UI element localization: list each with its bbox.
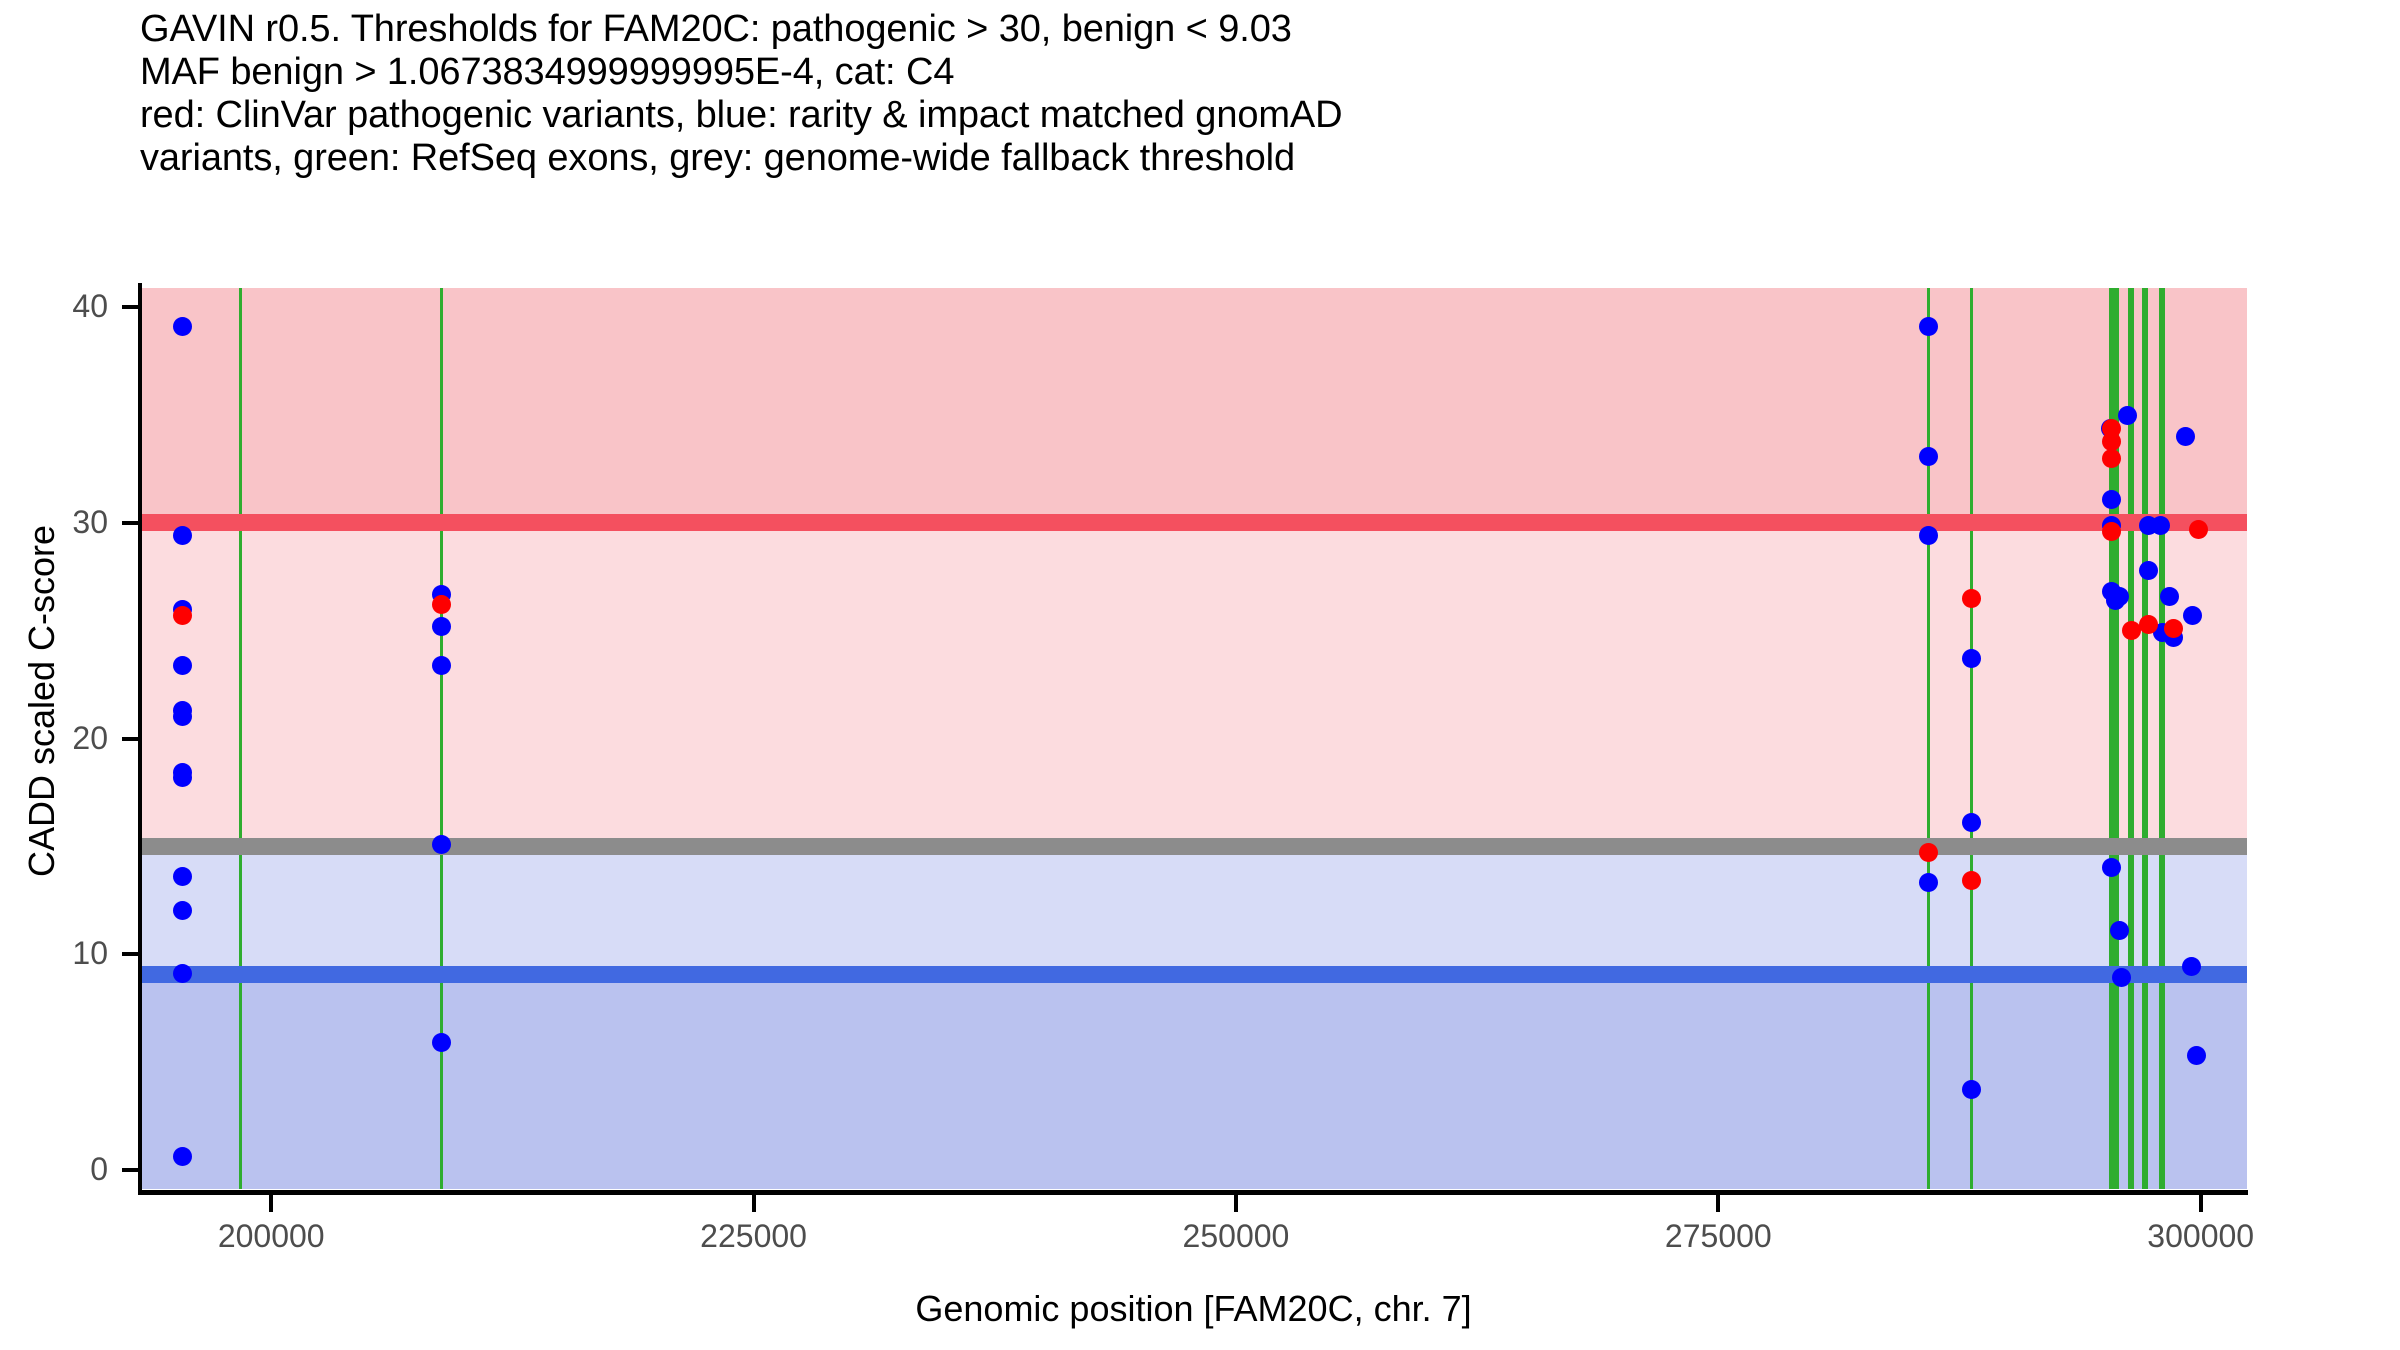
x-axis-tick-mark [269,1195,273,1212]
y-axis-tick-label: 30 [72,504,108,541]
refseq-exon-line [2159,288,2165,1189]
gnomad-variant-point [173,768,192,787]
y-axis-tick-mark [122,1168,139,1172]
benign-threshold-line [140,966,2247,983]
gnomad-variant-point [173,656,192,675]
refseq-exon-line [1927,288,1930,1189]
gnomad-variant-point [1962,649,1981,668]
gnomad-variant-point [1962,813,1981,832]
gnomad-variant-point [1919,447,1938,466]
gnomad-variant-point [2176,427,2195,446]
y-axis-tick-mark [122,521,139,525]
clinvar-pathogenic-point [2139,615,2158,634]
gnomad-variant-point [2110,921,2129,940]
gnomad-variant-point [432,835,451,854]
y-axis-tick-label: 0 [90,1151,108,1188]
gnomad-variant-point [2182,957,2201,976]
y-axis-tick-label: 10 [72,935,108,972]
clinvar-pathogenic-point [2122,621,2141,640]
gnomad-variant-point [2118,406,2137,425]
x-axis-tick-label: 250000 [1183,1218,1290,1255]
y-axis-tick-label: 20 [72,720,108,757]
x-axis-tick-mark [1716,1195,1720,1212]
x-axis-tick-label: 225000 [700,1218,807,1255]
refseq-exon-line [239,288,242,1189]
gnomad-variant-point [432,617,451,636]
gnomad-variant-point [432,656,451,675]
y-axis-title: CADD scaled C-score [21,391,63,1011]
clinvar-pathogenic-point [432,595,451,614]
y-axis-tick-mark [122,305,139,309]
gnomad-variant-point [2139,561,2158,580]
benign-upper-band [140,846,2247,975]
benign-lower-band [140,975,2247,1189]
gnomad-variant-point [1962,1080,1981,1099]
gnomad-variant-point [173,1147,192,1166]
gnomad-variant-point [173,964,192,983]
refseq-exon-line [1970,288,1973,1189]
clinvar-pathogenic-point [173,606,192,625]
plot-panel [140,288,2247,1189]
vous-band [140,523,2247,846]
gnomad-variant-point [2151,516,2170,535]
title-line-1: GAVIN r0.5. Thresholds for FAM20C: patho… [140,8,2240,51]
gnomad-variant-point [432,1033,451,1052]
x-axis-tick-label: 300000 [2147,1218,2254,1255]
title-line-3: red: ClinVar pathogenic variants, blue: … [140,94,2240,137]
x-axis-title: Genomic position [FAM20C, chr. 7] [140,1288,2247,1330]
gnomad-variant-point [173,867,192,886]
title-line-4: variants, green: RefSeq exons, grey: gen… [140,137,2240,180]
gnomad-variant-point [2160,587,2179,606]
y-axis-tick-mark [122,737,139,741]
x-axis-line [138,1190,2248,1195]
clinvar-pathogenic-point [1962,871,1981,890]
refseq-exon-line [2142,288,2148,1189]
clinvar-pathogenic-point [1962,589,1981,608]
plot-title: GAVIN r0.5. Thresholds for FAM20C: patho… [140,8,2240,180]
gavin-cadd-scatter-figure: GAVIN r0.5. Thresholds for FAM20C: patho… [0,0,2400,1350]
x-axis-tick-label: 200000 [218,1218,325,1255]
y-axis-tick-label: 40 [72,288,108,325]
x-axis-tick-mark [1234,1195,1238,1212]
x-axis-tick-mark [752,1195,756,1212]
refseq-exon-line [440,288,443,1189]
title-line-2: MAF benign > 1.0673834999999995E-4, cat:… [140,51,2240,94]
x-axis-tick-label: 275000 [1665,1218,1772,1255]
clinvar-pathogenic-point [2102,432,2121,451]
x-axis-tick-mark [2199,1195,2203,1212]
y-axis-tick-mark [122,952,139,956]
